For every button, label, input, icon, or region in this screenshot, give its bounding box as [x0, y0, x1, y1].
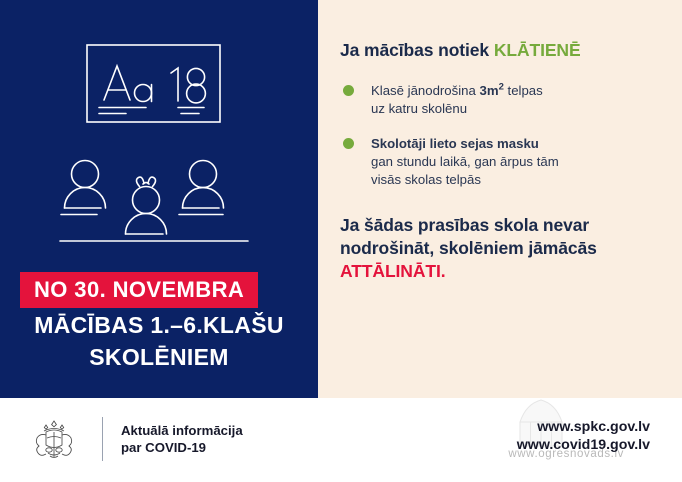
crest-leaf-left [46, 448, 52, 452]
board-numeral-8-top [187, 68, 204, 85]
bullet-1-line-2: uz katru skolēnu [371, 100, 670, 118]
date-banner: NO 30. NOVEMBRA [20, 272, 258, 308]
covid-school-infographic: NO 30. NOVEMBRA MĀCĪBAS 1.–6.KLAŠU SKOLĒ… [0, 0, 682, 482]
closing-accent: ATTĀLINĀTI. [340, 260, 670, 283]
closing-statement: Ja šādas prasības skola nevar nodrošināt… [340, 214, 670, 282]
pupil-middle-bow-right [148, 177, 156, 186]
bullet-2-line-3: visās skolas telpās [371, 171, 670, 189]
board-letter-a-bowl [135, 85, 152, 102]
footer-url-list[interactable]: www.spkc.gov.lv www.covid19.gov.lv [517, 418, 650, 454]
bullet-2-line-2: gan stundu laikā, gan ārpus tām [371, 153, 670, 171]
crest-lion-left [36, 434, 46, 455]
board-letter-A-outer [104, 66, 130, 100]
section-title-prefix: Ja mācības notiek [340, 40, 494, 60]
pupil-middle-bow-knot [143, 183, 149, 185]
headline-line-2: SKOLĒNIEM [0, 342, 318, 374]
closing-line-1: Ja šādas prasības skola nevar [340, 214, 670, 237]
pupil-right-body [183, 188, 224, 208]
date-banner-label: NO 30. NOVEMBRA [34, 278, 244, 301]
bullet-dot-icon [343, 138, 354, 149]
crest-griffin-right [62, 434, 72, 455]
footer-right-block: www.ogresnovads.lv www.spkc.gov.lv www.c… [370, 414, 650, 474]
board-numeral-1 [171, 68, 178, 101]
right-content-column: Ja mācības notiek KLĀTIENĒ Klasē jānodro… [340, 40, 670, 283]
pupil-left-head [72, 161, 99, 188]
bullet-1-line-1: Klasē jānodrošina 3m2 telpas [371, 82, 670, 100]
list-item: Skolotāji lieto sejas masku gan stundu l… [340, 135, 670, 188]
list-item: Klasē jānodrošina 3m2 telpas uz katru sk… [340, 82, 670, 117]
crest-leaf-right [56, 448, 62, 452]
pupil-middle-body [126, 214, 167, 235]
latvia-coat-of-arms-icon [28, 413, 80, 465]
footer-left-block: Aktuālā informācija par COVID-19 [28, 410, 243, 468]
section-title-accent: KLĀTIENĒ [494, 40, 581, 60]
bullet-1-prefix: Klasē jānodrošina [371, 83, 480, 98]
pupil-middle-bow-left [136, 177, 144, 186]
bullet-2-line-1: Skolotāji lieto sejas masku [371, 135, 670, 153]
footer-info-text: Aktuālā informācija par COVID-19 [121, 422, 243, 457]
footer-info-line-1: Aktuālā informācija [121, 422, 243, 439]
footer-url-covid19[interactable]: www.covid19.gov.lv [517, 436, 650, 454]
requirements-list: Klasē jānodrošina 3m2 telpas uz katru sk… [340, 82, 670, 188]
pupil-middle-head [133, 187, 160, 214]
bullet-1-strong-value: 3m [480, 83, 499, 98]
board-numeral-8-bottom [187, 84, 206, 103]
classroom-illustration-svg [0, 28, 318, 243]
footer-url-spkc[interactable]: www.spkc.gov.lv [517, 418, 650, 436]
crest-star-top [52, 421, 57, 427]
footer-divider [102, 417, 103, 461]
section-title: Ja mācības notiek KLĀTIENĒ [340, 40, 670, 62]
bullet-1-suffix: telpas [504, 83, 543, 98]
bullet-1-strong: 3m2 [480, 83, 504, 98]
headline-line-1: MĀCĪBAS 1.–6.KLAŠU [0, 310, 318, 342]
closing-line-2: nodrošināt, skolēniem jāmācās [340, 237, 670, 260]
headline: MĀCĪBAS 1.–6.KLAŠU SKOLĒNIEM [0, 310, 318, 373]
crest-star-right [60, 425, 63, 429]
blackboard-frame [87, 45, 220, 122]
classroom-illustration [0, 28, 318, 243]
pupil-right-head [190, 161, 217, 188]
crest-star-left [44, 425, 47, 429]
pupil-left-body [65, 187, 106, 208]
bullet-dot-icon [343, 85, 354, 96]
footer-info-line-2: par COVID-19 [121, 439, 243, 456]
